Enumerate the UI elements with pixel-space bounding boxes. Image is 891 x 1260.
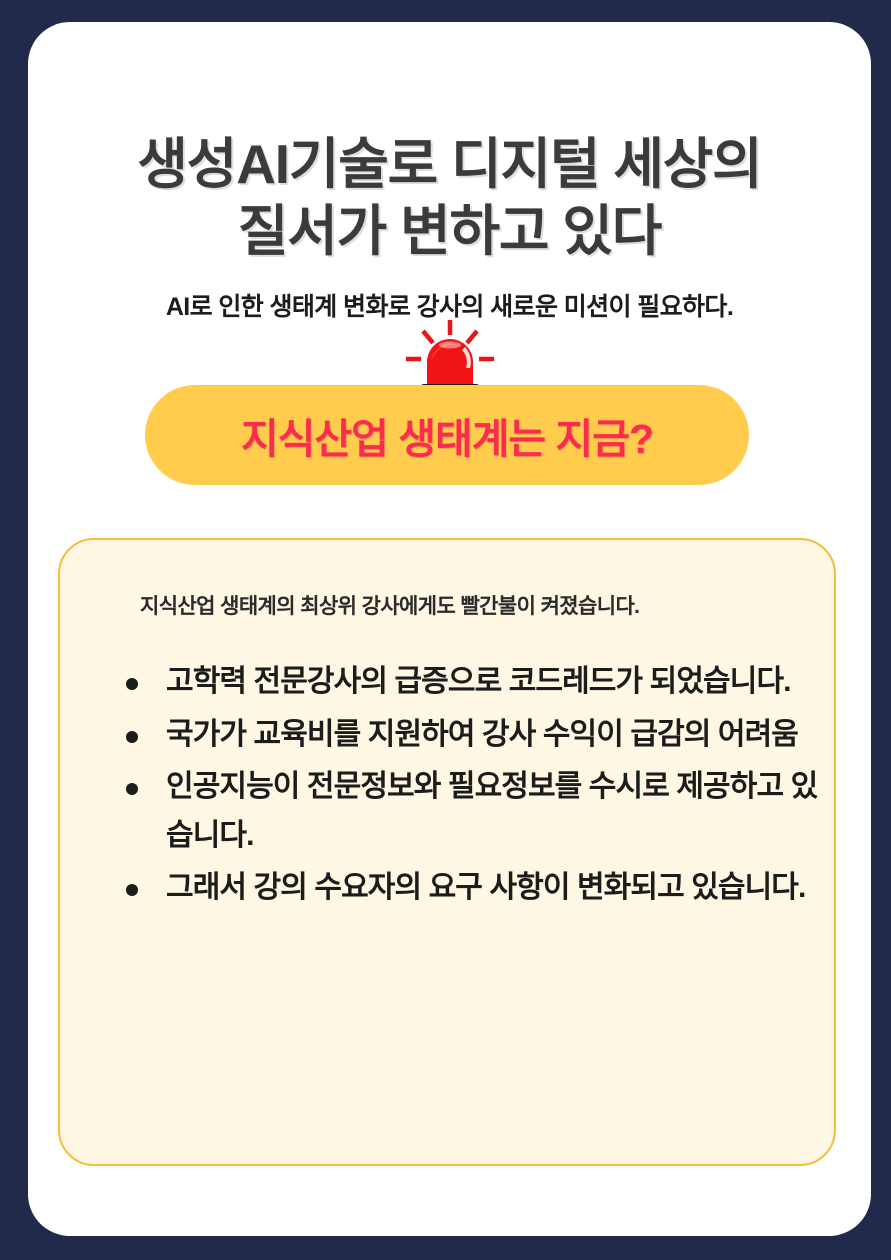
- section-badge[interactable]: 지식산업 생태계는 지금?: [145, 385, 749, 485]
- list-item-text: 인공지능이 전문정보와 필요정보를 수시로 제공하고 있습니다.: [166, 770, 817, 852]
- bullet-dot-icon: [126, 884, 138, 896]
- list-item: 그래서 강의 수요자의 요구 사항이 변화되고 있습니다.: [118, 864, 818, 913]
- list-item-text: 국가가 교육비를 지원하여 강사 수익이 급감의 어려움: [166, 718, 798, 751]
- bullet-dot-icon: [126, 731, 138, 743]
- content-panel: 지식산업 생태계의 최상위 강사에게도 빨간불이 켜졌습니다. 고학력 전문강사…: [58, 538, 836, 1166]
- list-item: 인공지능이 전문정보와 필요정보를 수시로 제공하고 있습니다.: [118, 763, 818, 860]
- page-title: 생성AI기술로 디지털 세상의 질서가 변하고 있다: [28, 131, 871, 265]
- list-item: 고학력 전문강사의 급증으로 코드레드가 되었습니다.: [118, 658, 818, 707]
- section-badge-label: 지식산업 생태계는 지금?: [241, 405, 653, 465]
- outer-frame: 생성AI기술로 디지털 세상의 질서가 변하고 있다 AI로 인한 생태계 변화…: [0, 0, 891, 1260]
- bullet-list: 고학력 전문강사의 급증으로 코드레드가 되었습니다. 국가가 교육비를 지원하…: [118, 658, 818, 917]
- list-item: 국가가 교육비를 지원하여 강사 수익이 급감의 어려움: [118, 711, 818, 760]
- bullet-dot-icon: [126, 783, 138, 795]
- list-item-text: 고학력 전문강사의 급증으로 코드레드가 되었습니다.: [166, 665, 791, 698]
- bullet-dot-icon: [126, 678, 138, 690]
- content-caption: 지식산업 생태계의 최상위 강사에게도 빨간불이 켜졌습니다.: [140, 590, 639, 620]
- slide-card: 생성AI기술로 디지털 세상의 질서가 변하고 있다 AI로 인한 생태계 변화…: [28, 22, 871, 1236]
- list-item-text: 그래서 강의 수요자의 요구 사항이 변화되고 있습니다.: [166, 871, 805, 904]
